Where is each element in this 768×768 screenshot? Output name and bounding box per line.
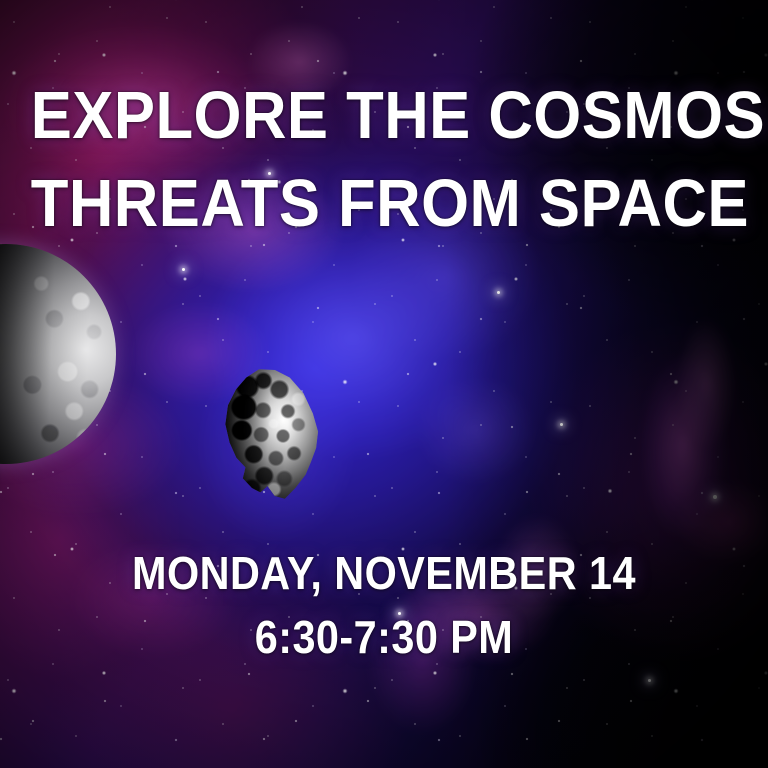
event-poster: EXPLORE THE COSMOS: THREATS FROM SPACE M… [0, 0, 768, 768]
event-date: MONDAY, NOVEMBER 14 [38, 550, 729, 596]
hero-star [560, 423, 563, 426]
hero-star [713, 495, 717, 499]
poster-title-line-1: EXPLORE THE COSMOS: [31, 82, 738, 149]
poster-title-line-2: THREATS FROM SPACE [31, 170, 738, 237]
moon [0, 244, 116, 464]
event-time: 6:30-7:30 PM [38, 614, 729, 660]
asteroid [216, 363, 329, 507]
moon-shadow [0, 244, 116, 464]
asteroid-body [216, 363, 329, 507]
asteroid-shadow [216, 363, 329, 507]
hero-star [648, 679, 651, 682]
hero-star [497, 291, 500, 294]
hero-star [182, 268, 185, 271]
